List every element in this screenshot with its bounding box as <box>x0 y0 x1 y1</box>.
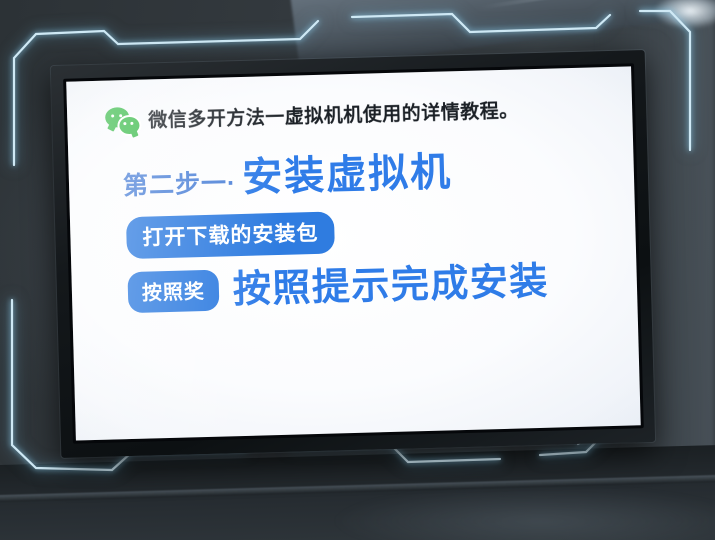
final-heading-row: 按照奖 按照提示完成安装 <box>127 259 607 313</box>
badge-follow-prompt: 按照奖 <box>127 270 219 313</box>
room-scene: 微信多开方法一虚拟机机使用的详情教程。 第二步一· 安装虚拟机 打开下载的安装包… <box>0 0 715 540</box>
badge-open-installer: 打开下载的安装包 <box>126 212 335 260</box>
display-screen[interactable]: 微信多开方法一虚拟机机使用的详情教程。 第二步一· 安装虚拟机 打开下载的安装包… <box>66 66 641 440</box>
final-heading: 按照提示完成安装 <box>232 262 549 309</box>
display-bezel-inner: 微信多开方法一虚拟机机使用的详情教程。 第二步一· 安装虚拟机 打开下载的安装包… <box>63 63 644 443</box>
display-bezel: 微信多开方法一虚拟机机使用的详情教程。 第二步一· 安装虚拟机 打开下载的安装包… <box>51 50 655 458</box>
wechat-logo <box>105 106 140 133</box>
presentation-slide: 微信多开方法一虚拟机机使用的详情教程。 第二步一· 安装虚拟机 打开下载的安装包… <box>66 66 641 440</box>
slide-title: 微信多开方法一虚拟机机使用的详情教程。 <box>148 95 519 132</box>
step-heading: 安装虚拟机 <box>242 152 453 198</box>
step-label: 第二步一· <box>123 163 237 202</box>
slide-title-row: 微信多开方法一虚拟机机使用的详情教程。 <box>105 93 603 133</box>
step-heading-row: 第二步一· 安装虚拟机 <box>122 148 604 202</box>
floor-reflection <box>330 486 715 540</box>
